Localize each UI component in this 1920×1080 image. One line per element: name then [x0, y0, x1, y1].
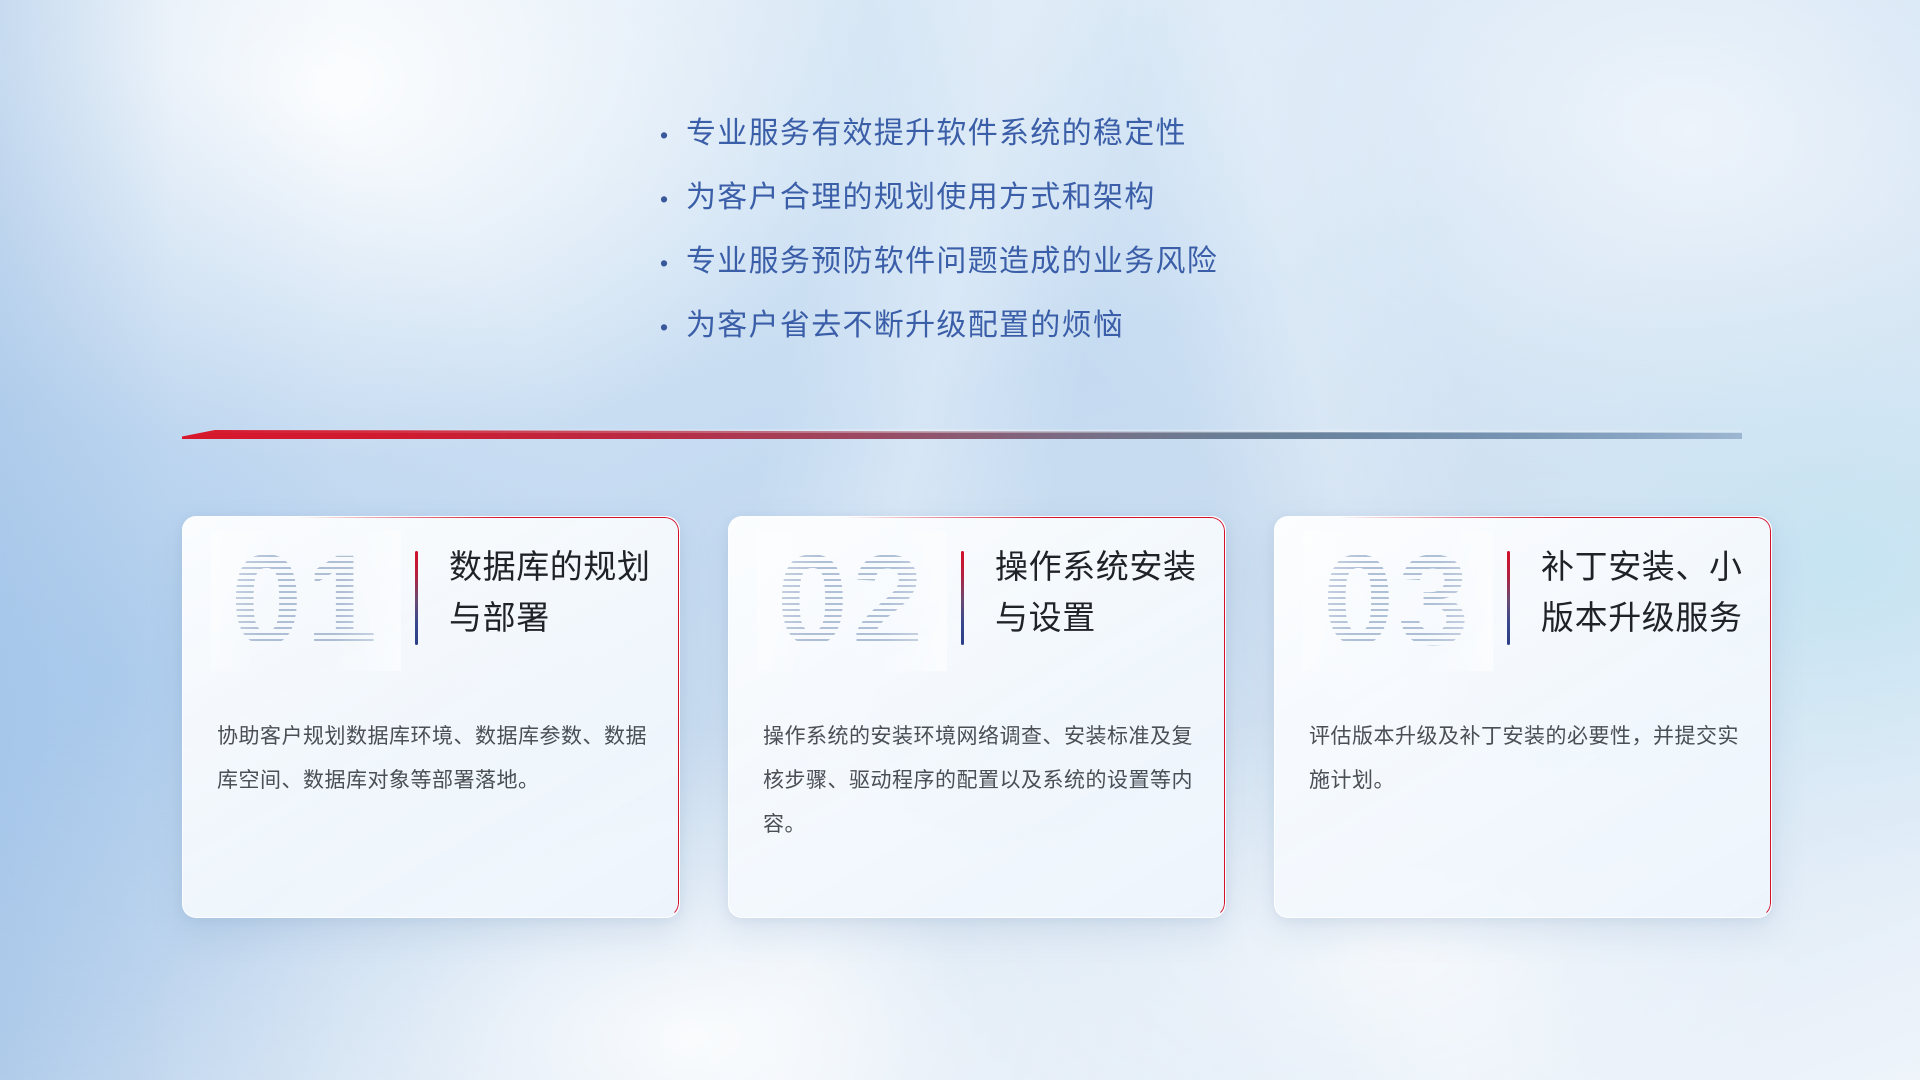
card-header: 02 操作系统安装与设置 — [729, 517, 1225, 693]
card-number-03: 03 — [1303, 531, 1493, 671]
bullet-text-3: 专业服务预防软件问题造成的业务风险 — [686, 236, 1218, 280]
card-body-03: 评估版本升级及补丁安装的必要性，并提交实施计划。 — [1309, 715, 1743, 803]
service-card-03[interactable]: 03 补丁安装、小版本升级服务 评估版本升级及补丁安装的必要性，并提交实施计划。 — [1274, 516, 1772, 918]
bullet-text-1: 专业服务有效提升软件系统的稳定性 — [686, 108, 1187, 152]
bullet-item-3: • 专业服务预防软件问题造成的业务风险 — [660, 236, 1420, 300]
card-title-02: 操作系统安装与设置 — [995, 541, 1205, 643]
card-title-03: 补丁安装、小版本升级服务 — [1541, 541, 1751, 643]
card-title-rule — [1507, 551, 1510, 645]
bullet-text-2: 为客户合理的规划使用方式和架构 — [686, 172, 1156, 216]
divider-highlight — [182, 429, 1742, 433]
benefits-bullet-list: • 专业服务有效提升软件系统的稳定性 • 为客户合理的规划使用方式和架构 • 专… — [660, 108, 1420, 364]
card-number-01: 01 — [211, 531, 401, 671]
service-card-01[interactable]: 01 数据库的规划与部署 协助客户规划数据库环境、数据库参数、数据库空间、数据库… — [182, 516, 680, 918]
bullet-dot-icon: • — [660, 188, 686, 211]
service-card-02[interactable]: 02 操作系统安装与设置 操作系统的安装环境网络调查、安装标准及复核步骤、驱动程… — [728, 516, 1226, 918]
card-title-01: 数据库的规划与部署 — [449, 541, 659, 643]
card-header: 01 数据库的规划与部署 — [183, 517, 679, 693]
card-header: 03 补丁安装、小版本升级服务 — [1275, 517, 1771, 693]
bullet-text-4: 为客户省去不断升级配置的烦恼 — [686, 300, 1124, 344]
slide-canvas: • 专业服务有效提升软件系统的稳定性 • 为客户合理的规划使用方式和架构 • 专… — [0, 0, 1920, 1080]
service-card-group: 01 数据库的规划与部署 协助客户规划数据库环境、数据库参数、数据库空间、数据库… — [0, 516, 1920, 936]
card-number-02: 02 — [757, 531, 947, 671]
card-title-rule — [961, 551, 964, 645]
bullet-item-2: • 为客户合理的规划使用方式和架构 — [660, 172, 1420, 236]
bullet-dot-icon: • — [660, 252, 686, 275]
bullet-item-4: • 为客户省去不断升级配置的烦恼 — [660, 300, 1420, 364]
card-body-01: 协助客户规划数据库环境、数据库参数、数据库空间、数据库对象等部署落地。 — [217, 715, 651, 803]
card-title-rule — [415, 551, 418, 645]
bullet-dot-icon: • — [660, 316, 686, 339]
bullet-item-1: • 专业服务有效提升软件系统的稳定性 — [660, 108, 1420, 172]
bullet-dot-icon: • — [660, 124, 686, 147]
card-body-02: 操作系统的安装环境网络调查、安装标准及复核步骤、驱动程序的配置以及系统的设置等内… — [763, 715, 1197, 847]
section-divider — [182, 424, 1742, 448]
